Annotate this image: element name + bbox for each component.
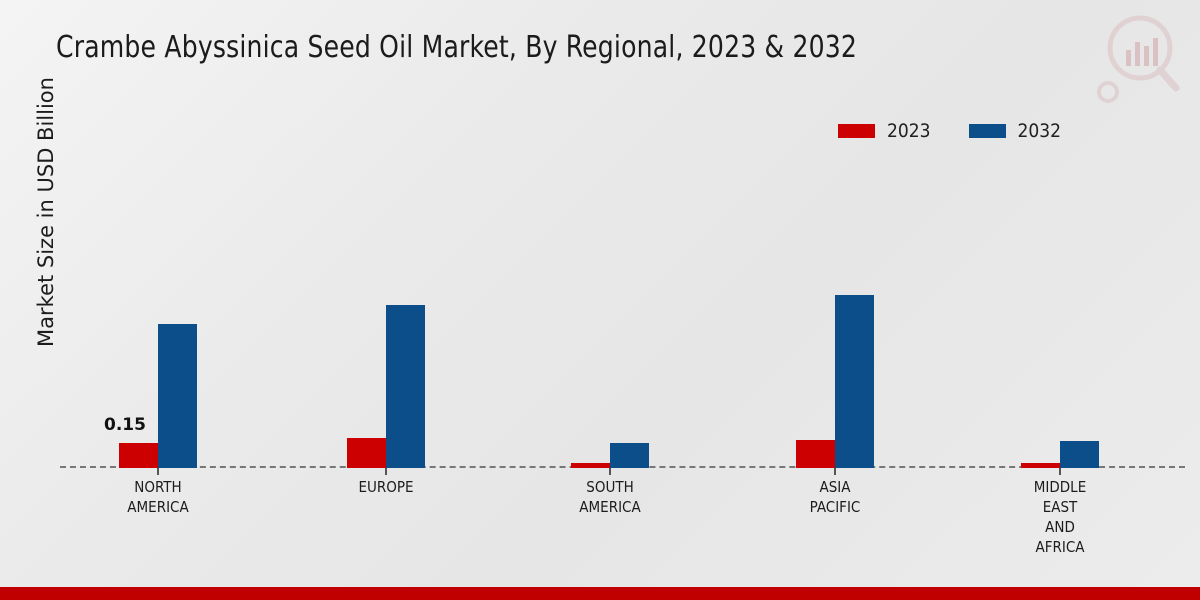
legend-item-2032[interactable]: 2032 (969, 120, 1062, 142)
x-label-south-america: SOUTH AMERICA (579, 477, 640, 517)
plot-area: 0.15 NORTH AMERICA EUROPE SOUTH A (60, 150, 1185, 468)
x-tick-europe (385, 468, 387, 475)
legend-swatch-2023 (838, 124, 875, 138)
bar-group-middle-east-and-africa: MIDDLE EAST AND AFRICA (1000, 150, 1120, 468)
bar-middle-east-and-africa-2032[interactable] (1060, 441, 1099, 468)
x-tick-middle-east-and-africa (1059, 468, 1061, 475)
bar-asia-pacific-2023[interactable] (796, 440, 835, 468)
legend-label-2032: 2032 (1018, 120, 1062, 142)
bar-south-america-2023[interactable] (571, 463, 610, 468)
bar-group-north-america: 0.15 NORTH AMERICA (98, 150, 218, 468)
bottom-accent-bar (0, 587, 1200, 600)
bar-europe-2023[interactable] (347, 438, 386, 468)
chart-legend: 2023 2032 (838, 120, 1061, 142)
bar-group-asia-pacific: ASIA PACIFIC (775, 150, 895, 468)
x-tick-north-america (157, 468, 159, 475)
bar-asia-pacific-2032[interactable] (835, 295, 874, 468)
x-label-asia-pacific: ASIA PACIFIC (810, 477, 861, 517)
brand-watermark-logo-icon (1096, 12, 1182, 104)
bar-north-america-2032[interactable] (158, 324, 197, 468)
bars-europe (347, 150, 425, 468)
x-label-europe: EUROPE (358, 477, 413, 497)
bar-south-america-2032[interactable] (610, 443, 649, 468)
x-label-middle-east-and-africa: MIDDLE EAST AND AFRICA (1034, 477, 1086, 557)
bars-south-america (571, 150, 649, 468)
chart-page: Crambe Abyssinica Seed Oil Market, By Re… (0, 0, 1200, 600)
bar-north-america-2023[interactable] (119, 443, 158, 468)
bars-north-america (119, 150, 197, 468)
legend-swatch-2032 (969, 124, 1006, 138)
legend-item-2023[interactable]: 2023 (838, 120, 931, 142)
bar-group-europe: EUROPE (326, 150, 446, 468)
y-axis-title: Market Size in USD Billion (34, 62, 58, 362)
x-label-north-america: NORTH AMERICA (127, 477, 188, 517)
x-tick-south-america (609, 468, 611, 475)
bar-group-south-america: SOUTH AMERICA (550, 150, 670, 468)
legend-label-2023: 2023 (887, 120, 931, 142)
x-tick-asia-pacific (834, 468, 836, 475)
page-title: Crambe Abyssinica Seed Oil Market, By Re… (56, 30, 857, 65)
bar-middle-east-and-africa-2023[interactable] (1021, 463, 1060, 468)
bars-asia-pacific (796, 150, 874, 468)
bar-europe-2032[interactable] (386, 305, 425, 468)
bars-middle-east-and-africa (1021, 150, 1099, 468)
